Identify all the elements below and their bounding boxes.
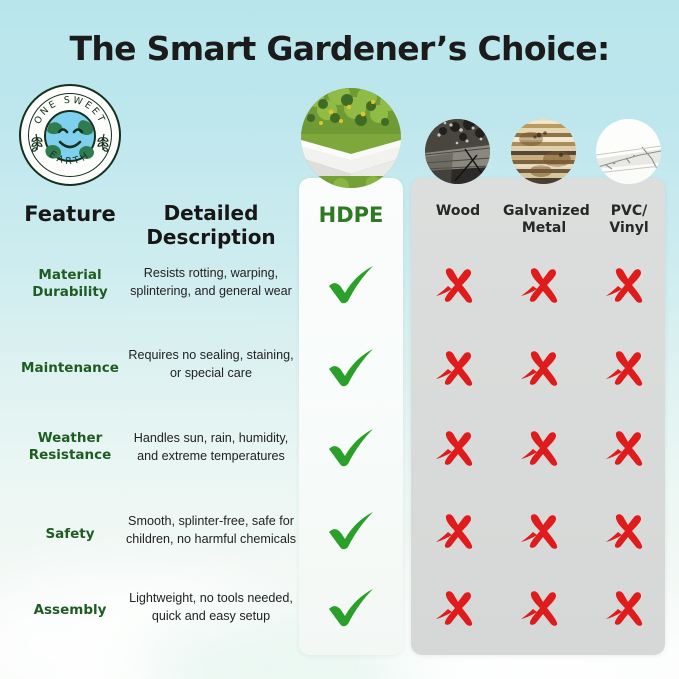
page-title: The Smart Gardener’s Choice: [0,29,679,68]
row-feature-label: Safety [0,526,140,543]
row-description-text: Smooth, splinter-free, safe for children… [122,513,300,549]
check-icon-glyph [321,425,381,469]
hdpe-raised-bed-photo [301,88,401,188]
cell-hdpe-check-icon [321,345,381,389]
cell-pvc-vinyl-cross-icon [598,508,658,552]
header-hdpe: HDPE [299,203,403,228]
header-pvc-vinyl: PVC/ Vinyl [591,203,667,236]
row-description-text: Lightweight, no tools needed, quick and … [122,590,300,626]
cell-pvc-vinyl-cross-icon [598,585,658,629]
cell-wood-cross-icon [428,425,488,469]
check-icon-glyph [321,345,381,389]
cross-icon-glyph [428,425,488,469]
cell-galvanized-metal-cross-icon [513,508,573,552]
svg-text:EARTH: EARTH [47,149,93,167]
check-icon-glyph [321,508,381,552]
row-feature-label: Assembly [0,602,140,619]
rusted-corrugated-metal-photo [511,119,576,184]
logo-bottom-text: EARTH [19,84,121,186]
cross-icon-glyph [598,425,658,469]
cell-pvc-vinyl-cross-icon [598,425,658,469]
earth-logo: ONE SWEET EARTH [19,84,121,186]
cross-icon-glyph [428,345,488,389]
cross-icon-glyph [428,508,488,552]
cell-galvanized-metal-cross-icon [513,262,573,306]
cross-icon-glyph [598,262,658,306]
cell-hdpe-check-icon [321,425,381,469]
cross-icon-glyph [598,345,658,389]
cell-wood-cross-icon [428,508,488,552]
header-feature: Feature [0,202,140,227]
header-galvanized-metal: Galvanized Metal [503,203,585,236]
cross-icon-glyph [513,345,573,389]
cell-wood-cross-icon [428,262,488,306]
cross-icon-glyph [428,585,488,629]
cell-hdpe-check-icon [321,262,381,306]
row-description-text: Resists rotting, warping, splintering, a… [122,265,300,301]
cross-icon-glyph [598,585,658,629]
cell-galvanized-metal-cross-icon [513,425,573,469]
row-feature-label: Maintenance [0,360,140,377]
check-icon-glyph [321,262,381,306]
cross-icon-glyph [428,262,488,306]
cell-galvanized-metal-cross-icon [513,585,573,629]
infographic-canvas: The Smart Gardener’s Choice: [0,0,679,679]
cell-galvanized-metal-cross-icon [513,345,573,389]
header-description: Detailed Description [132,202,290,249]
cracked-pvc-photo [596,119,661,184]
row-description-text: Handles sun, rain, humidity, and extreme… [122,430,300,466]
cross-icon-glyph [513,508,573,552]
cross-icon-glyph [513,262,573,306]
hdpe-column-panel [299,178,403,655]
check-icon-glyph [321,585,381,629]
row-description-text: Requires no sealing, staining, or specia… [122,347,300,383]
rotted-wood-photo [425,119,490,184]
cell-wood-cross-icon [428,585,488,629]
competitors-column-panel [411,178,665,655]
cross-icon-glyph [513,425,573,469]
row-feature-label: Weather Resistance [0,430,140,465]
cross-icon-glyph [513,585,573,629]
cell-wood-cross-icon [428,345,488,389]
cell-pvc-vinyl-cross-icon [598,345,658,389]
cell-pvc-vinyl-cross-icon [598,262,658,306]
header-wood: Wood [419,203,497,220]
cell-hdpe-check-icon [321,585,381,629]
cell-hdpe-check-icon [321,508,381,552]
cross-icon-glyph [598,508,658,552]
row-feature-label: Material Durability [0,267,140,302]
